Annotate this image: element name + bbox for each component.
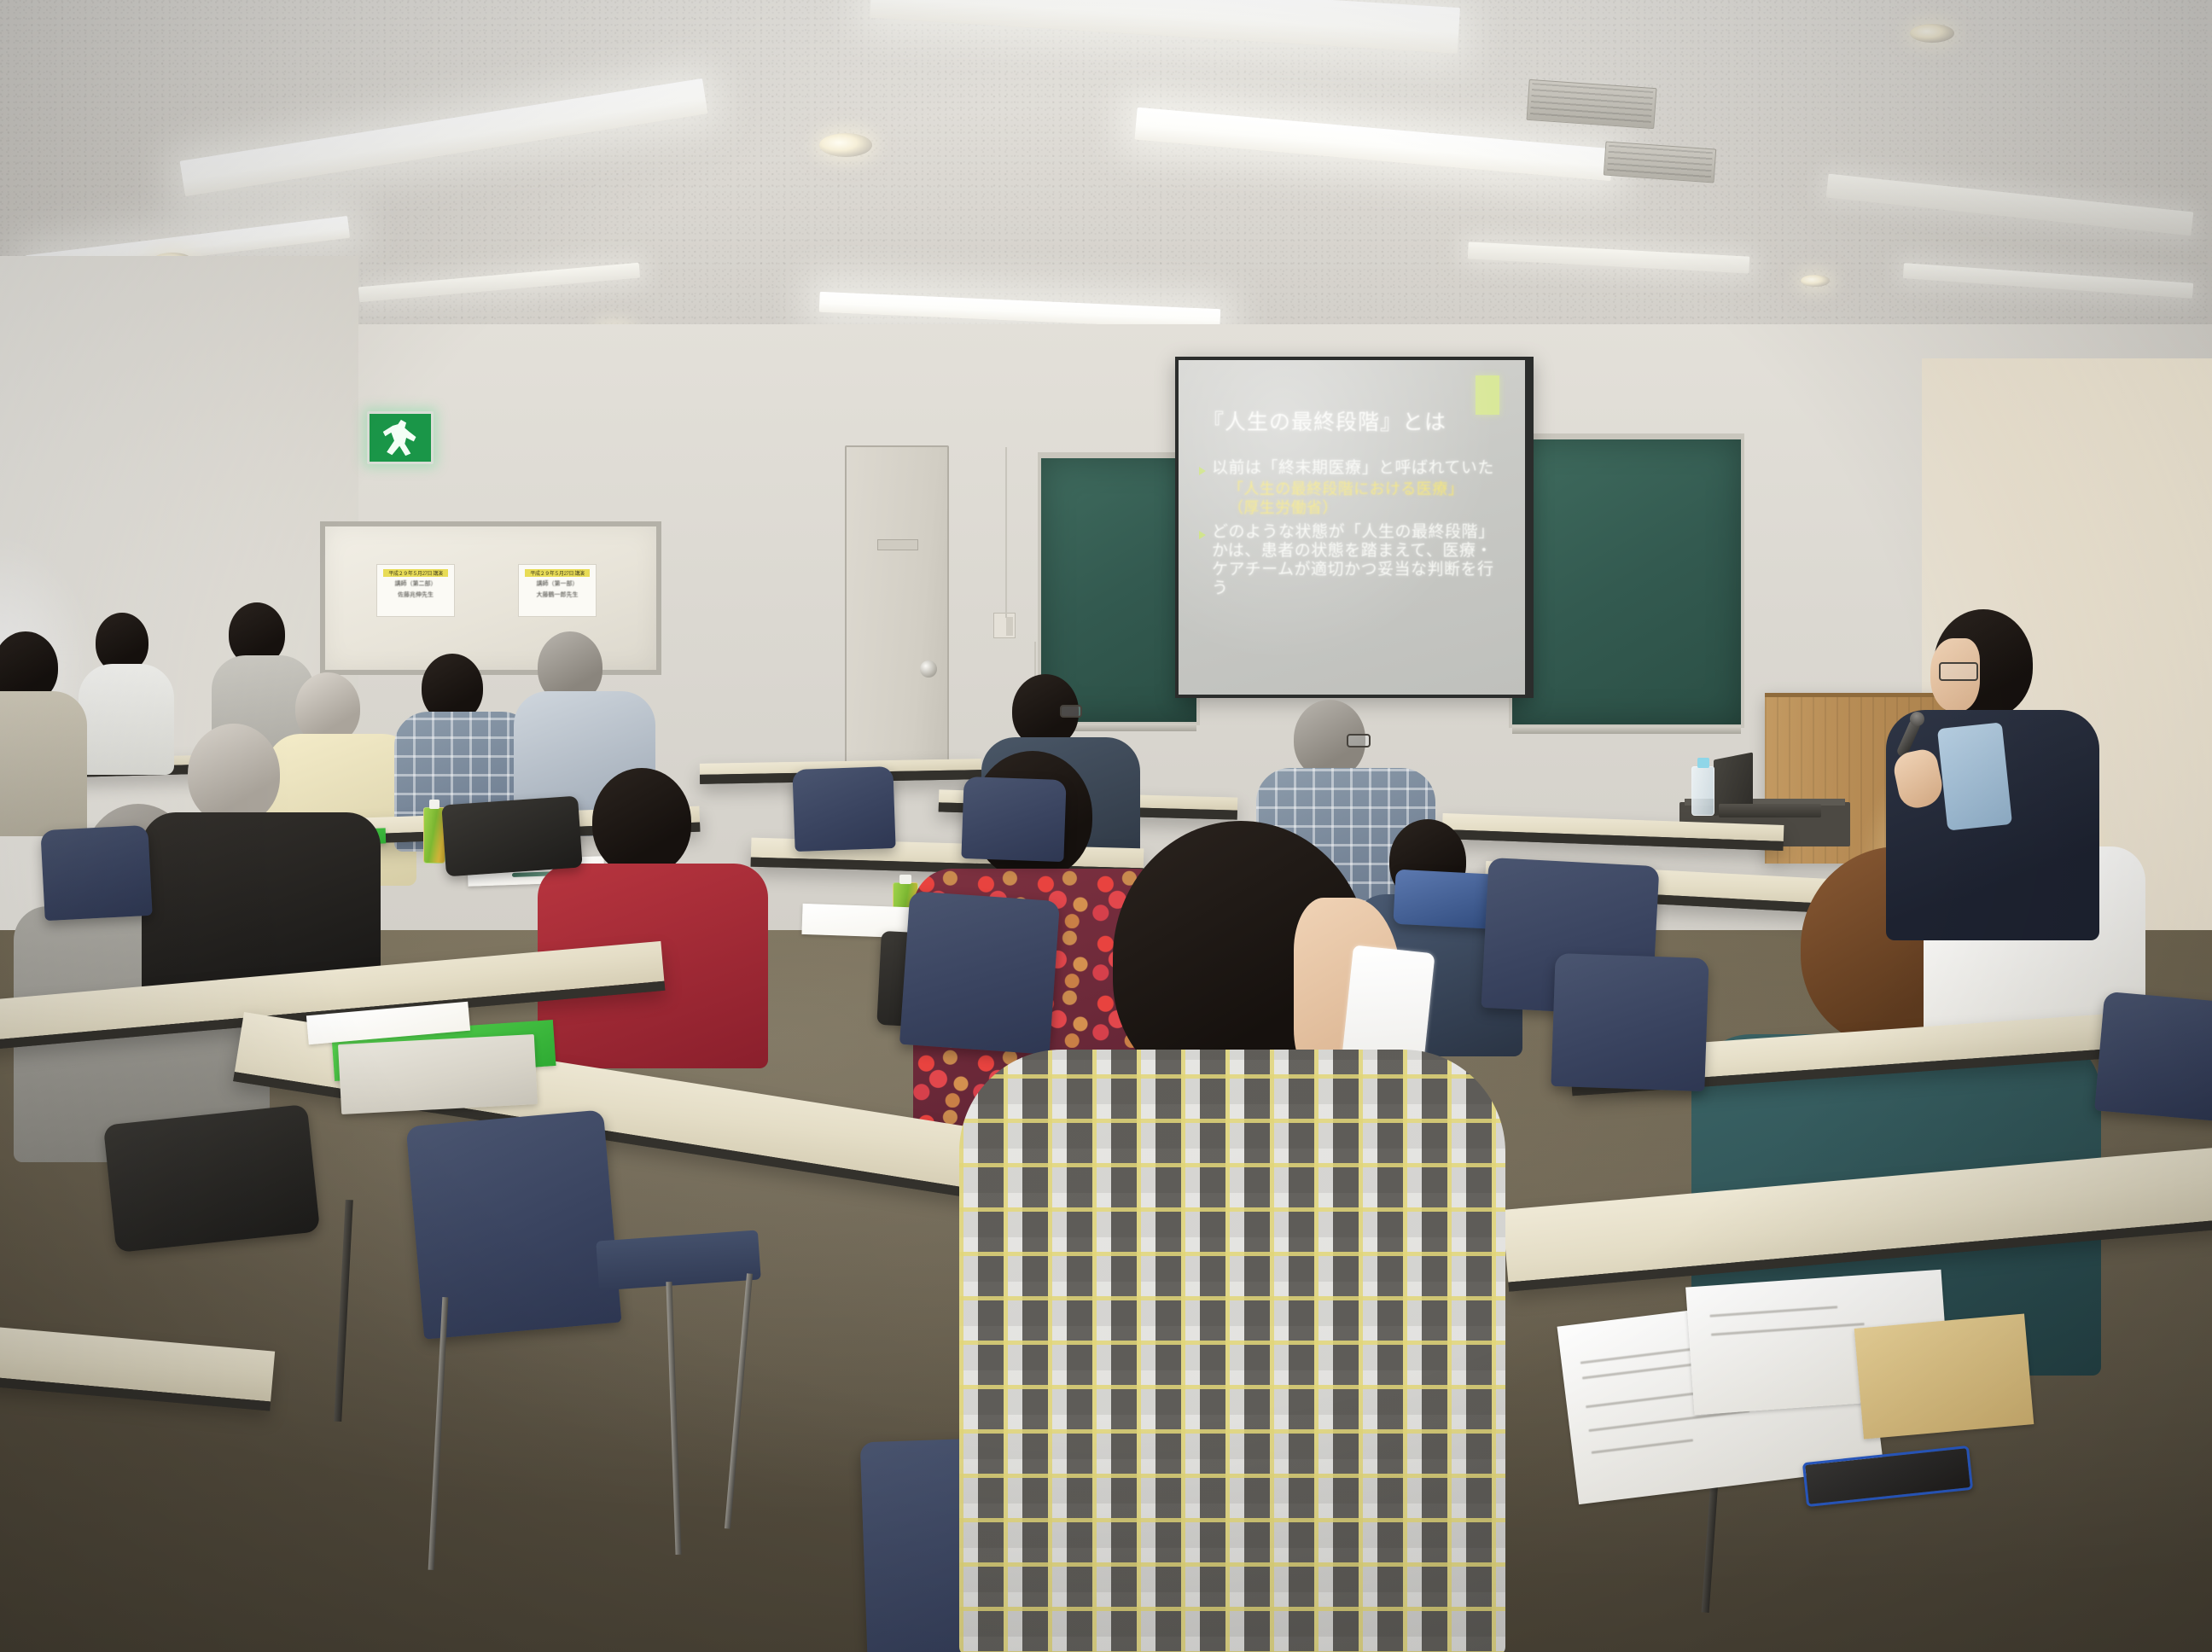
- sign-highlight: 平成２９年５月27日 講演: [525, 569, 590, 577]
- room-door[interactable]: [845, 445, 949, 777]
- sign-line-1: 講師（第二部）: [395, 579, 437, 588]
- sign-line-2: 佐藤兆伸先生: [398, 590, 434, 599]
- stacking-folding-chair[interactable]: [1551, 953, 1708, 1091]
- shoulder-bag: [441, 796, 582, 877]
- slide-bullet: どのような状態が「人生の最終段階」かは、患者の状態を踏まえて、医療・ケアチームが…: [1199, 523, 1501, 598]
- stacking-folding-chair[interactable]: [792, 766, 895, 852]
- shoulder-bag: [103, 1104, 320, 1253]
- sign-highlight: 平成２９年５月27日 講演: [383, 569, 448, 577]
- presenter-laptop-base[interactable]: [1719, 804, 1821, 817]
- door-plate: [877, 539, 918, 550]
- running-man-icon: [381, 419, 419, 457]
- recessed-downlight: [1801, 275, 1830, 287]
- whiteboard-sign: 平成２９年５月27日 講演 講師（第二部） 佐藤兆伸先生: [376, 564, 455, 617]
- torso: [959, 1050, 1505, 1652]
- torso: [79, 664, 174, 775]
- projection-screen: 『人生の最終段階』とは 以前は「終末期医療」と呼ばれていた 「人生の最終段階にお…: [1175, 357, 1534, 698]
- head: [188, 724, 280, 824]
- door-knob[interactable]: [920, 660, 937, 678]
- tan-file-folder: [1854, 1314, 2034, 1440]
- slide-bullet-text: 以前は「終末期医療」と呼ばれていた: [1212, 459, 1494, 478]
- whiteboard: 平成２９年５月27日 講演 講師（第二部） 佐藤兆伸先生 平成２９年５月27日 …: [320, 521, 661, 675]
- slide-bullet: 以前は「終末期医療」と呼ばれていた: [1199, 459, 1501, 478]
- shirt-collar: [1937, 722, 2012, 830]
- light-switch-plate[interactable]: [993, 613, 1016, 638]
- bullet-marker-icon: [1199, 531, 1206, 539]
- slide-sub-bullet: （厚生労働省）: [1228, 499, 1501, 518]
- glasses: [1347, 734, 1371, 747]
- folded-newspaper: [338, 1034, 538, 1114]
- slide-title: 『人生の最終段階』とは: [1202, 405, 1487, 436]
- slide-sub-bullet: 「人生の最終段階における医療」: [1228, 480, 1501, 499]
- glasses: [1060, 705, 1082, 718]
- bullet-marker-icon: [1199, 467, 1206, 475]
- whiteboard-sign: 平成２９年５月27日 講演 講師（第一部） 大藤鶴一郎先生: [518, 564, 597, 617]
- green-chalkboard-right: [1509, 433, 1744, 728]
- stacking-folding-chair[interactable]: [961, 777, 1066, 862]
- emergency-exit-sign: [367, 411, 434, 464]
- water-bottle: [1691, 766, 1714, 816]
- projected-slide: 『人生の最終段階』とは 以前は「終末期医療」と呼ばれていた 「人生の最終段階にお…: [1179, 360, 1525, 695]
- stacking-folding-chair[interactable]: [2094, 992, 2212, 1122]
- glasses: [1939, 662, 1978, 681]
- sign-line-2: 大藤鶴一郎先生: [537, 590, 579, 599]
- stacking-folding-chair[interactable]: [406, 1109, 622, 1339]
- slide-bullet-text: どのような状態が「人生の最終段階」かは、患者の状態を踏まえて、医療・ケアチームが…: [1212, 523, 1501, 598]
- screen-pull-cord[interactable]: [1005, 447, 1007, 618]
- lecture-room-photo: 平成２９年５月27日 講演 講師（第二部） 佐藤兆伸先生 平成２９年５月27日 …: [0, 0, 2212, 1652]
- slide-bullet-list: 以前は「終末期医療」と呼ばれていた 「人生の最終段階における医療」 （厚生労働省…: [1199, 459, 1501, 601]
- stacking-folding-chair[interactable]: [40, 825, 152, 921]
- head: [592, 768, 691, 875]
- recessed-downlight: [1910, 24, 1954, 43]
- torso: [0, 691, 87, 836]
- stacking-folding-chair[interactable]: [899, 891, 1060, 1055]
- sign-line-1: 講師（第一部）: [537, 579, 579, 588]
- recessed-downlight: [819, 133, 872, 157]
